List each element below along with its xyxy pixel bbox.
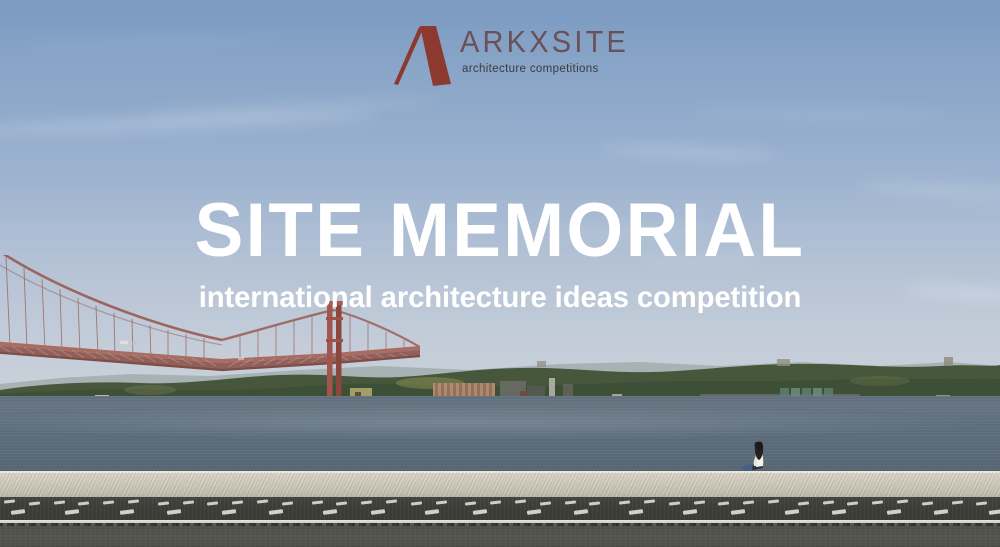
reflector-stud-field [0,497,1000,521]
reflector-stud [425,509,439,515]
reflector-stud [743,501,754,505]
competition-title: SITE MEMORIAL [20,193,980,269]
reflector-stud [269,509,283,515]
reflector-stud [490,501,501,505]
reflector-stud [540,501,551,505]
reflector-stud [619,501,630,505]
reflector-stud [120,509,134,515]
reflector-stud [718,502,729,506]
reflector-stud [472,509,486,515]
reflector-stud [887,509,901,515]
reflector-stud [730,509,744,515]
reflector-stud [4,499,15,503]
poster-canvas: ARKXSITE architecture competitions SITE … [0,0,1000,547]
reflector-stud [785,509,799,515]
reflector-stud [435,500,446,504]
reflector-stud [669,501,680,505]
reflector-stud [257,499,268,503]
reflector-stud [465,502,476,506]
competition-subtitle: international architecture ideas competi… [5,283,995,313]
reflector-stud [411,501,422,505]
reflector-stud [589,502,600,506]
reflector-stud [847,502,858,506]
reflector-stud [515,499,526,503]
reflector-stud [78,502,89,506]
reflector-stud [564,500,575,504]
promenade-stone-texture [0,471,1000,499]
person-sitting-on-promenade [741,437,775,475]
reflector-stud [527,509,541,515]
reflector-stud [29,501,40,505]
water-glint [0,406,1000,440]
reflector-stud [371,509,385,515]
reflector-stud [934,509,948,515]
headline-block: SITE MEMORIAL international architecture… [0,193,1000,313]
reflector-stud [128,499,139,503]
reflector-stud [311,500,322,504]
river-water [0,396,1000,476]
reflector-stud [207,502,218,506]
reflector-stud [976,502,987,506]
reflector-stud [282,501,293,505]
reflector-stud [53,500,64,504]
reflector-stud [768,499,779,503]
reflector-stud [158,501,169,505]
reflector-stud [822,500,833,504]
reflector-stud [644,499,655,503]
reflector-stud [897,499,908,503]
stone-promenade-wall [0,471,1000,499]
reflector-stud [951,500,962,504]
reflector-stud [361,501,372,505]
reflector-stud [221,509,235,515]
arkxsite-tagline: architecture competitions [462,64,629,76]
asphalt-texture [0,523,1000,547]
arkxsite-logo-text: ARKXSITE architecture competitions [460,24,629,76]
reflector-stud [988,509,1000,515]
arkxsite-a-mark-icon [389,24,455,88]
reflector-stud [798,501,809,505]
reflector-stud [832,509,846,515]
reflector-stud [386,499,397,503]
reflector-stud [629,509,643,515]
reflector-stud [11,509,25,515]
arkxsite-logo[interactable]: ARKXSITE architecture competitions [389,24,621,88]
reflector-stud [182,500,193,504]
reflector-stud [65,509,79,515]
reflector-stud [922,501,933,505]
asphalt-road [0,523,1000,547]
reflector-stud [323,509,337,515]
reflector-stud [232,501,243,505]
reflector-stud [574,509,588,515]
reflector-stud [693,500,704,504]
reflector-stud [336,502,347,506]
reflector-stud [103,501,114,505]
reflector-stud [683,509,697,515]
reflector-stud [872,501,883,505]
bike-lane-with-reflector-studs [0,497,1000,521]
arkxsite-wordmark: ARKXSITE [460,28,629,58]
reflector-stud [167,509,181,515]
